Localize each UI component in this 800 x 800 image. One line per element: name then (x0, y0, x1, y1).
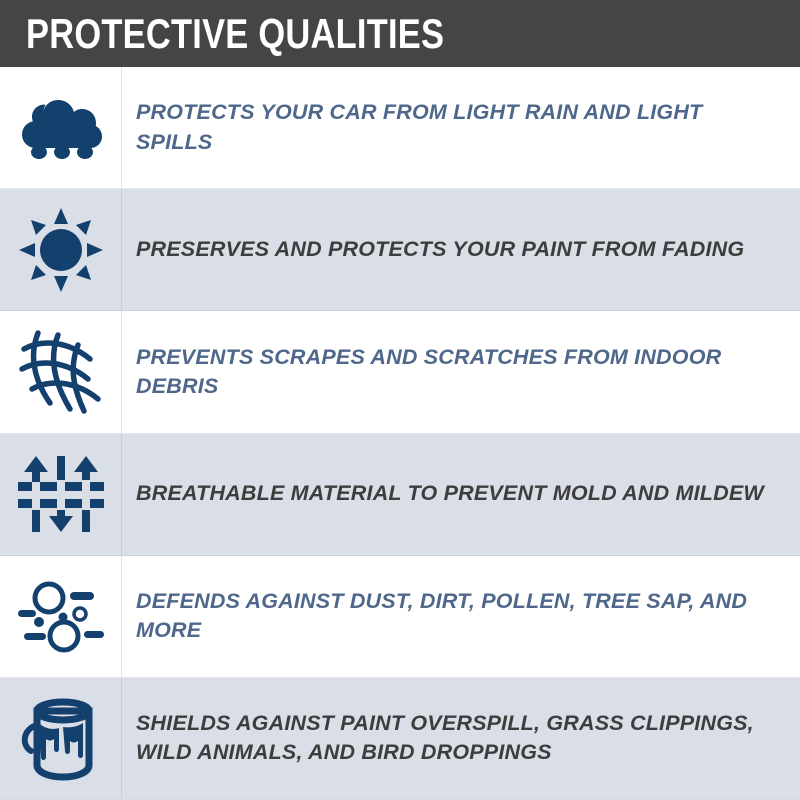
feature-label: PREVENTS SCRAPES AND SCRATCHES FROM INDO… (136, 343, 778, 401)
feature-text-cell: PREVENTS SCRAPES AND SCRATCHES FROM INDO… (122, 311, 800, 432)
feature-label: BREATHABLE MATERIAL TO PREVENT MOLD AND … (136, 479, 764, 508)
feature-list: PROTECTS YOUR CAR FROM LIGHT RAIN AND LI… (0, 67, 800, 800)
feature-row: PREVENTS SCRAPES AND SCRATCHES FROM INDO… (0, 311, 800, 433)
feature-row: DEFENDS AGAINST DUST, DIRT, POLLEN, TREE… (0, 556, 800, 678)
feature-icon-cell (0, 67, 122, 188)
feature-icon-cell (0, 189, 122, 310)
feature-icon-cell (0, 311, 122, 432)
feature-text-cell: SHIELDS AGAINST PAINT OVERSPILL, GRASS C… (122, 678, 800, 799)
breathable-airflow-icon (18, 454, 104, 534)
feature-text-cell: PROTECTS YOUR CAR FROM LIGHT RAIN AND LI… (122, 67, 800, 188)
header-bar: PROTECTIVE QUALITIES (0, 0, 800, 67)
feature-label: DEFENDS AGAINST DUST, DIRT, POLLEN, TREE… (136, 587, 778, 645)
page-title: PROTECTIVE QUALITIES (26, 13, 444, 55)
feature-label: PRESERVES AND PROTECTS YOUR PAINT FROM F… (136, 235, 744, 264)
feature-text-cell: DEFENDS AGAINST DUST, DIRT, POLLEN, TREE… (122, 556, 800, 677)
feature-row: SHIELDS AGAINST PAINT OVERSPILL, GRASS C… (0, 678, 800, 800)
feature-text-cell: BREATHABLE MATERIAL TO PREVENT MOLD AND … (122, 434, 800, 555)
feature-icon-cell (0, 678, 122, 799)
protective-qualities-infographic: PROTECTIVE QUALITIES PROTECTS YOUR CAR F… (0, 0, 800, 800)
feature-label: SHIELDS AGAINST PAINT OVERSPILL, GRASS C… (136, 709, 778, 767)
feature-label: PROTECTS YOUR CAR FROM LIGHT RAIN AND LI… (136, 98, 778, 156)
rain-cloud-icon (19, 89, 103, 167)
feature-text-cell: PRESERVES AND PROTECTS YOUR PAINT FROM F… (122, 189, 800, 310)
feature-row: BREATHABLE MATERIAL TO PREVENT MOLD AND … (0, 434, 800, 556)
paint-can-icon (19, 695, 103, 781)
scratch-mesh-icon (18, 329, 104, 415)
feature-row: PRESERVES AND PROTECTS YOUR PAINT FROM F… (0, 189, 800, 311)
sun-icon (19, 208, 103, 292)
feature-row: PROTECTS YOUR CAR FROM LIGHT RAIN AND LI… (0, 67, 800, 189)
feature-icon-cell (0, 556, 122, 677)
feature-icon-cell (0, 434, 122, 555)
dust-particles-icon (18, 578, 104, 654)
